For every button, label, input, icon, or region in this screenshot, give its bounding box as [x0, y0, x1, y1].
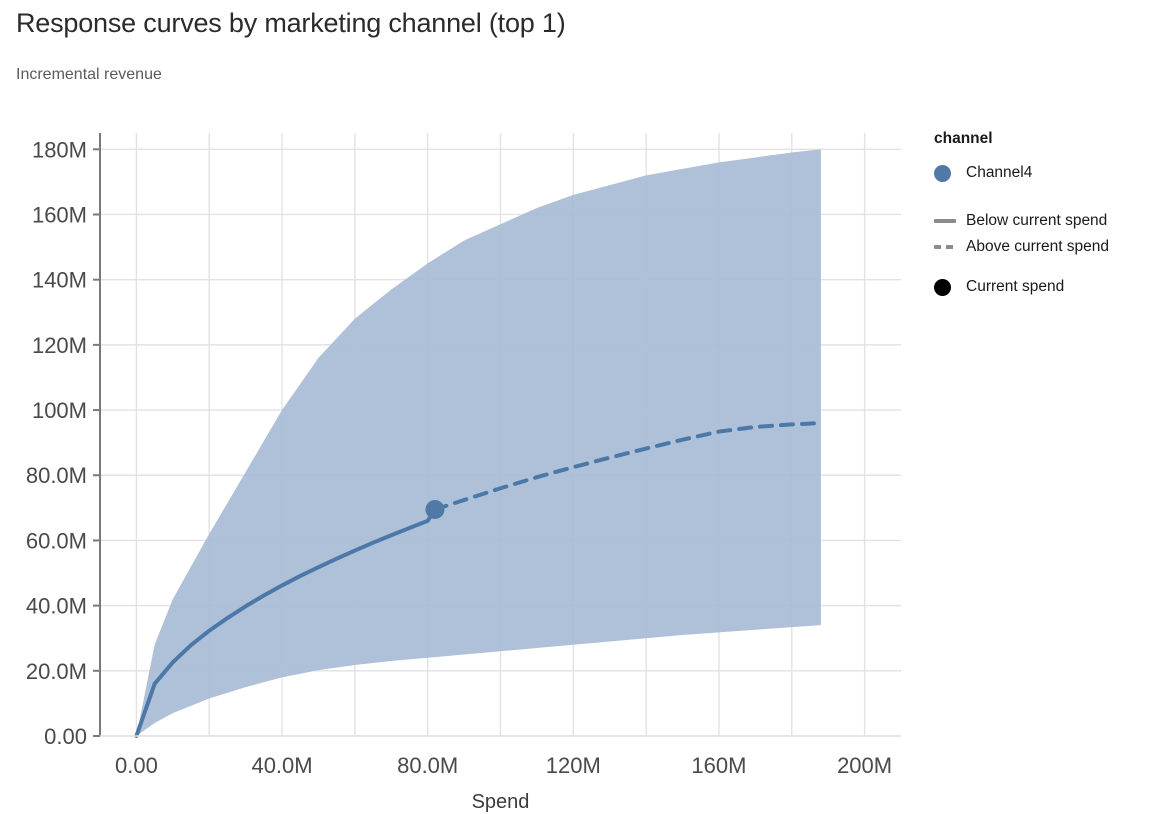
- legend-item-label: Current spend: [966, 278, 1064, 296]
- svg-text:40.0M: 40.0M: [26, 594, 87, 619]
- svg-text:20.0M: 20.0M: [26, 659, 87, 684]
- chart-page: Response curves by marketing channel (to…: [0, 0, 1164, 814]
- svg-text:40.0M: 40.0M: [251, 753, 312, 778]
- legend-item-label: Channel4: [966, 164, 1032, 182]
- svg-text:100M: 100M: [32, 398, 87, 423]
- svg-text:140M: 140M: [32, 268, 87, 293]
- legend-spacer: [934, 186, 1164, 208]
- confidence-band: [136, 149, 820, 736]
- current-spend-marker[interactable]: [425, 500, 444, 519]
- svg-text:160M: 160M: [32, 202, 87, 227]
- svg-text:120M: 120M: [32, 333, 87, 358]
- svg-text:80.0M: 80.0M: [397, 753, 458, 778]
- response-curve-plot: 0.0020.0M40.0M60.0M80.0M100M120M140M160M…: [0, 0, 1164, 814]
- svg-text:0.00: 0.00: [44, 724, 87, 749]
- svg-text:60.0M: 60.0M: [26, 528, 87, 553]
- legend-item-current-spend[interactable]: Current spend: [934, 274, 1164, 300]
- legend-item-label: Below current spend: [966, 212, 1107, 230]
- legend-item-label: Above current spend: [966, 238, 1109, 256]
- channel4-dot-icon: [934, 165, 966, 182]
- legend-item-above-current-spend[interactable]: Above current spend: [934, 234, 1164, 260]
- svg-text:200M: 200M: [837, 753, 892, 778]
- solid-line-icon: [934, 219, 966, 223]
- legend-spacer: [934, 260, 1164, 274]
- current-spend-dot-icon: [934, 279, 966, 296]
- dashed-line-icon: [934, 245, 966, 249]
- legend-title: channel: [934, 130, 1164, 148]
- legend-item-below-current-spend[interactable]: Below current spend: [934, 208, 1164, 234]
- svg-text:120M: 120M: [546, 753, 601, 778]
- svg-text:Spend: Spend: [472, 791, 530, 813]
- legend: channel Channel4 Below current spend Abo…: [934, 130, 1164, 300]
- svg-text:160M: 160M: [691, 753, 746, 778]
- svg-text:180M: 180M: [32, 137, 87, 162]
- svg-text:80.0M: 80.0M: [26, 463, 87, 488]
- svg-text:0.00: 0.00: [115, 753, 158, 778]
- legend-item-channel4[interactable]: Channel4: [934, 160, 1164, 186]
